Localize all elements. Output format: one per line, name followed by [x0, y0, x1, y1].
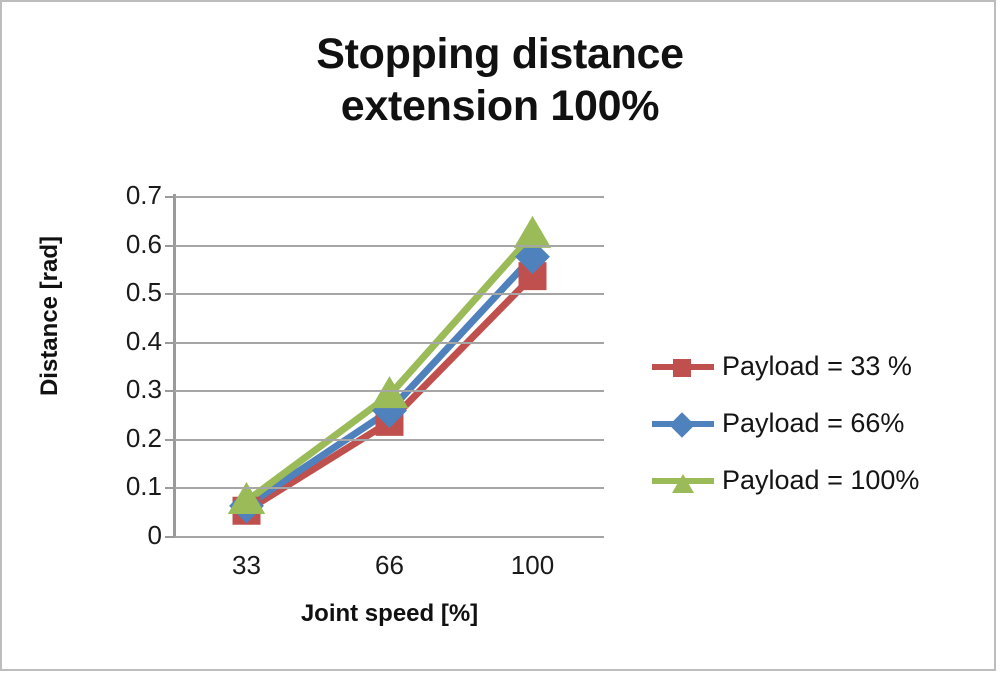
legend-diamond-marker-icon	[669, 412, 694, 437]
legend-swatch	[652, 353, 714, 381]
x-axis-tick-label: 66	[330, 550, 450, 581]
legend-item[interactable]: Payload = 100%	[652, 452, 992, 509]
gridline	[175, 390, 604, 392]
gridline	[175, 342, 604, 344]
y-axis-tick	[165, 293, 175, 295]
y-axis-tick	[165, 536, 175, 538]
legend-label: Payload = 33 %	[722, 351, 912, 382]
y-axis-tick-labels: 00.10.20.30.40.50.60.7	[94, 2, 162, 677]
chart-legend: Payload = 33 %Payload = 66%Payload = 100…	[652, 338, 992, 509]
legend-square-marker-icon	[673, 359, 691, 377]
y-axis-tick	[165, 196, 175, 198]
y-axis-tick-label: 0.4	[102, 328, 162, 354]
y-axis-title: Distance [rad]	[36, 206, 64, 426]
data-point-marker	[516, 218, 550, 247]
legend-label: Payload = 66%	[722, 408, 904, 439]
chart-frame: Stopping distance extension 100% 00.10.2…	[0, 0, 996, 671]
legend-swatch	[652, 410, 714, 438]
y-axis-tick	[165, 390, 175, 392]
legend-item[interactable]: Payload = 33 %	[652, 338, 992, 395]
x-axis-title: Joint speed [%]	[175, 600, 604, 628]
y-axis-tick-label: 0.6	[102, 231, 162, 257]
plot-area	[175, 196, 604, 536]
legend-label: Payload = 100%	[722, 465, 919, 496]
y-axis-tick-label: 0	[102, 522, 162, 548]
y-axis-tick	[165, 487, 175, 489]
gridline	[175, 196, 604, 198]
y-axis-tick-label: 0.3	[102, 376, 162, 402]
x-axis-tick-label: 100	[473, 550, 593, 581]
y-axis-tick-label: 0.5	[102, 279, 162, 305]
chart-title-line-1: Stopping distance	[316, 30, 684, 78]
gridline	[175, 245, 604, 247]
series-line	[247, 235, 533, 501]
series-svg	[175, 196, 604, 536]
y-axis-tick	[165, 342, 175, 344]
y-axis-tick	[165, 439, 175, 441]
legend-triangle-marker-icon	[672, 474, 694, 493]
y-axis-tick	[165, 245, 175, 247]
gridline	[175, 487, 604, 489]
gridline	[175, 293, 604, 295]
y-axis-tick-label: 0.2	[102, 425, 162, 451]
gridline	[175, 439, 604, 441]
y-axis-tick-label: 0.7	[102, 182, 162, 208]
y-axis-tick-label: 0.1	[102, 473, 162, 499]
gridline	[175, 536, 604, 538]
legend-item[interactable]: Payload = 66%	[652, 395, 992, 452]
legend-swatch	[652, 467, 714, 495]
x-axis-tick-label: 33	[187, 550, 307, 581]
